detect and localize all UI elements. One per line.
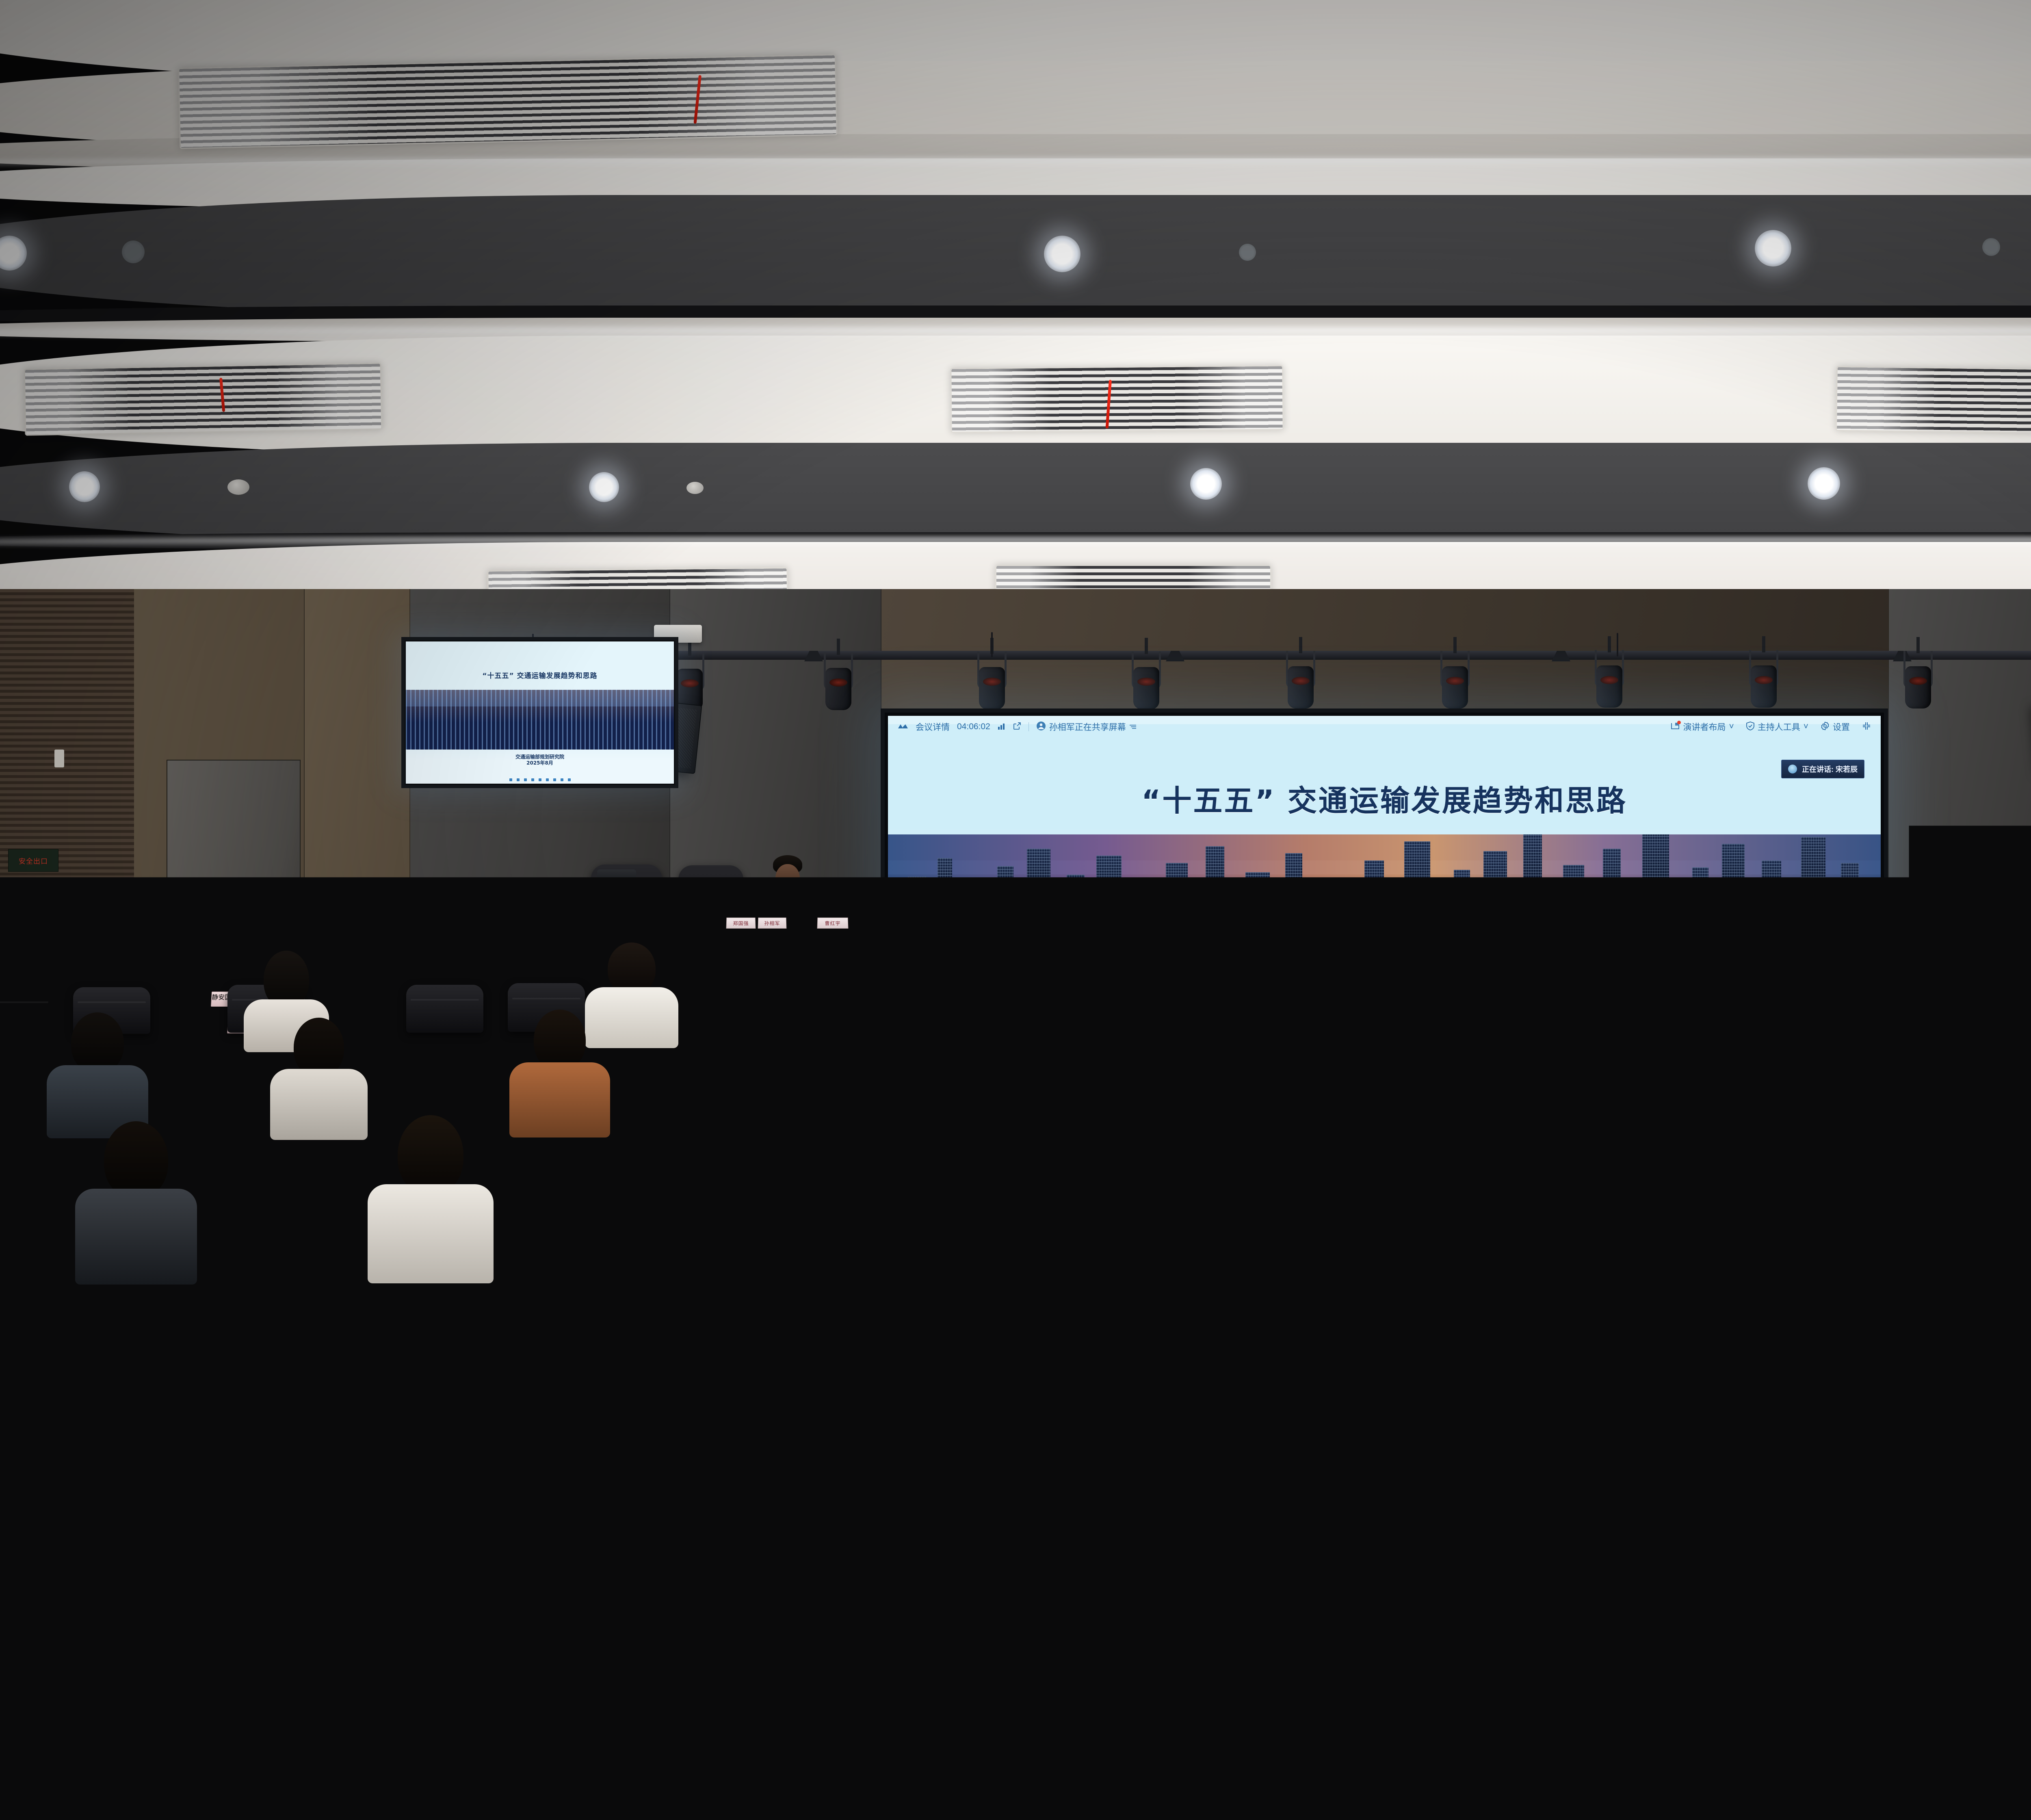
camera-off-icon	[1226, 965, 1240, 977]
audience-person	[617, 1133, 739, 1288]
exit-sign: 安全出口	[8, 849, 58, 872]
chevron-down-icon: ˅	[1729, 722, 1734, 732]
ceiling-soffit-2	[0, 443, 2031, 544]
exit-fullscreen-icon[interactable]	[1862, 721, 1871, 732]
notification-badge	[1677, 721, 1681, 724]
downlight-off	[122, 240, 145, 263]
nameplate: 郑国强	[726, 918, 756, 929]
shield-icon	[1746, 721, 1754, 732]
water-bottle	[799, 897, 810, 929]
toolbar-mute-button[interactable]: 静音	[1167, 965, 1199, 989]
lighting-truss	[479, 651, 2031, 660]
speaker-layout-button[interactable]: 演讲者布局 ˅	[1671, 721, 1734, 733]
meeting-bottom-toolbar: 静音 开启视频 共享屏幕	[888, 962, 1881, 992]
settings-button[interactable]: 设置	[1821, 721, 1850, 733]
water-bottle	[691, 890, 701, 922]
mini-slide: “十五五” 交通运输发展趋势和思路 交通运输部规划研究院 2025年8月	[406, 641, 674, 784]
audience-person	[366, 1115, 496, 1278]
water-bottle	[1585, 1055, 1594, 1082]
toolbar-members-label: 成员(2)	[1374, 979, 1395, 989]
host-tools-label: 主持人工具	[1758, 721, 1800, 733]
audience-person	[890, 1109, 1024, 1280]
hvac-vent-grille	[24, 362, 383, 435]
fire-alarm-box	[52, 880, 66, 901]
downlight	[69, 471, 100, 502]
downlight	[1755, 230, 1791, 266]
smoke-detector-icon	[227, 479, 249, 495]
sharing-status-text: 孙相军正在共享屏幕	[1049, 721, 1126, 733]
stage-light	[1747, 650, 1781, 711]
toolbar-raisehand-label: 举手	[1529, 979, 1542, 989]
stage-light	[975, 652, 1009, 713]
audience-chair[interactable]	[0, 1377, 106, 1499]
toolbar-members-button[interactable]: 成员(2)	[1368, 965, 1401, 989]
mini-slide-title: “十五五” 交通运输发展趋势和思路	[406, 670, 674, 680]
wall-switch[interactable]	[54, 750, 64, 767]
camera-tripod	[613, 886, 619, 1007]
downlight-off	[1239, 244, 1256, 261]
teacup	[705, 912, 720, 929]
audience-person	[508, 1010, 611, 1133]
toolbar-video-button[interactable]: 开启视频	[1217, 965, 1249, 989]
video-camera	[597, 869, 636, 895]
cable	[1617, 633, 1618, 656]
toolbar-share-label: 共享屏幕	[1271, 979, 1297, 989]
mini-org-text: 交通运输部规划研究院	[406, 754, 674, 760]
audience-person	[1901, 1099, 2023, 1253]
nameplate: 曹红宇	[817, 918, 849, 929]
downlight-off	[1982, 238, 2000, 256]
slide-title: “十五五” 交通运输发展趋势和思路	[888, 777, 1881, 819]
audience-person	[1397, 1097, 1519, 1251]
sharing-status-group: 孙相军正在共享屏幕	[1036, 721, 1137, 733]
settings-label: 设置	[1833, 721, 1850, 733]
ceiling	[0, 0, 2031, 617]
audience-person-foreground	[49, 1495, 236, 1820]
host-tools-button[interactable]: 主持人工具 ˅	[1746, 721, 1808, 733]
downlight	[1044, 236, 1080, 272]
audience-chair[interactable]	[0, 1194, 61, 1280]
tencent-meeting-logo-icon	[898, 723, 908, 731]
audience-chair[interactable]	[455, 1373, 617, 1503]
audience-chair[interactable]	[691, 1389, 861, 1527]
stage-light	[1901, 651, 1935, 712]
smoke-detector-icon	[686, 482, 704, 494]
meeting-bar-right-group: 演讲者布局 ˅ 主持人工具 ˅	[1671, 721, 1871, 733]
mini-date-text: 2025年8月	[406, 760, 674, 766]
slide-cityscape-image	[888, 834, 1881, 952]
audience-person	[1665, 1093, 1789, 1251]
toolbar-share-button[interactable]: 共享屏幕	[1267, 965, 1300, 989]
presentation-slide: 会议详情 04:06:02	[888, 716, 1881, 994]
active-speaker-text: 正在讲话: 宋若辰	[1802, 764, 1858, 774]
cove-light-strip-2	[0, 327, 2031, 338]
stage-light	[1592, 650, 1626, 711]
water-bottle	[489, 984, 497, 1007]
audience-chair[interactable]	[406, 985, 483, 1033]
hvac-vent-grille	[1836, 366, 2031, 435]
bar-divider	[1028, 722, 1029, 731]
chevron-down-icon: ˅	[1804, 722, 1808, 732]
meeting-details-label[interactable]: 会议详情	[916, 721, 950, 733]
members-icon	[1377, 965, 1391, 977]
audience-desk	[2023, 1198, 2031, 1241]
more-menu-icon[interactable]	[1129, 723, 1137, 731]
audience-person	[45, 1012, 150, 1134]
avatar-icon	[1036, 721, 1046, 732]
audience-chair[interactable]	[735, 1190, 853, 1277]
audience-person-foreground	[1609, 1259, 1860, 1625]
invite-user-icon	[1327, 965, 1341, 977]
downlight	[1190, 468, 1222, 500]
active-speaker-badge: 正在讲话: 宋若辰	[1781, 760, 1864, 778]
downlight	[589, 472, 619, 502]
toolbar-raisehand-button[interactable]: 举手	[1519, 965, 1552, 989]
audience-person	[268, 1018, 370, 1135]
gear-icon	[1821, 721, 1830, 732]
layout-icon	[1671, 722, 1680, 732]
side-monitor-left: “十五五” 交通运输发展趋势和思路 交通运输部规划研究院 2025年8月	[401, 637, 678, 788]
audience-chair[interactable]	[1381, 1320, 1544, 1442]
stage-light	[821, 652, 855, 713]
cove-light-strip-3	[0, 537, 2031, 548]
conference-room-photo: 安全出口	[0, 0, 2031, 1820]
microphone-icon	[1788, 765, 1797, 773]
front-console-desk	[1259, 1007, 1450, 1056]
main-led-screen: 会议详情 04:06:02	[881, 708, 1888, 1001]
cove-light-strip-1	[0, 158, 2031, 168]
nameplate: 孙相军	[758, 918, 787, 929]
toolbar-invite-label: 邀请	[1327, 979, 1340, 989]
ceiling-soffit-1	[0, 195, 2031, 317]
stage-light	[1438, 651, 1472, 712]
share-external-icon[interactable]	[1013, 722, 1021, 732]
toolbar-mute-label: 静音	[1176, 979, 1189, 989]
toolbar-video-label: 开启视频	[1220, 979, 1246, 989]
water-bottle	[164, 983, 172, 1006]
audience-person	[699, 1012, 800, 1133]
audience-desk	[1925, 987, 2031, 1012]
mini-slide-org: 交通运输部规划研究院 2025年8月	[406, 754, 674, 766]
hvac-vent-grille	[950, 365, 1284, 433]
meeting-top-bar: 会议详情 04:06:02	[888, 716, 1881, 738]
audience-person	[73, 1121, 199, 1280]
meeting-elapsed-time: 04:06:02	[957, 722, 990, 732]
audience-chair[interactable]	[317, 1597, 520, 1767]
signal-bars-icon[interactable]	[998, 722, 1006, 731]
toolbar-invite-button[interactable]: 邀请	[1318, 965, 1350, 989]
stage-light	[1129, 652, 1163, 713]
cable	[991, 632, 993, 657]
hvac-vent-grille	[178, 54, 838, 149]
mini-toolbar	[406, 776, 674, 783]
microphone-icon	[1176, 965, 1190, 977]
share-screen-icon	[1277, 965, 1290, 977]
stage-light	[1284, 651, 1318, 712]
downlight	[1808, 467, 1840, 500]
speaker-layout-label: 演讲者布局	[1683, 721, 1726, 733]
mini-slide-cityscape	[406, 690, 674, 750]
audience-chair[interactable]	[1917, 1316, 2031, 1442]
raise-hand-icon	[1529, 965, 1542, 977]
